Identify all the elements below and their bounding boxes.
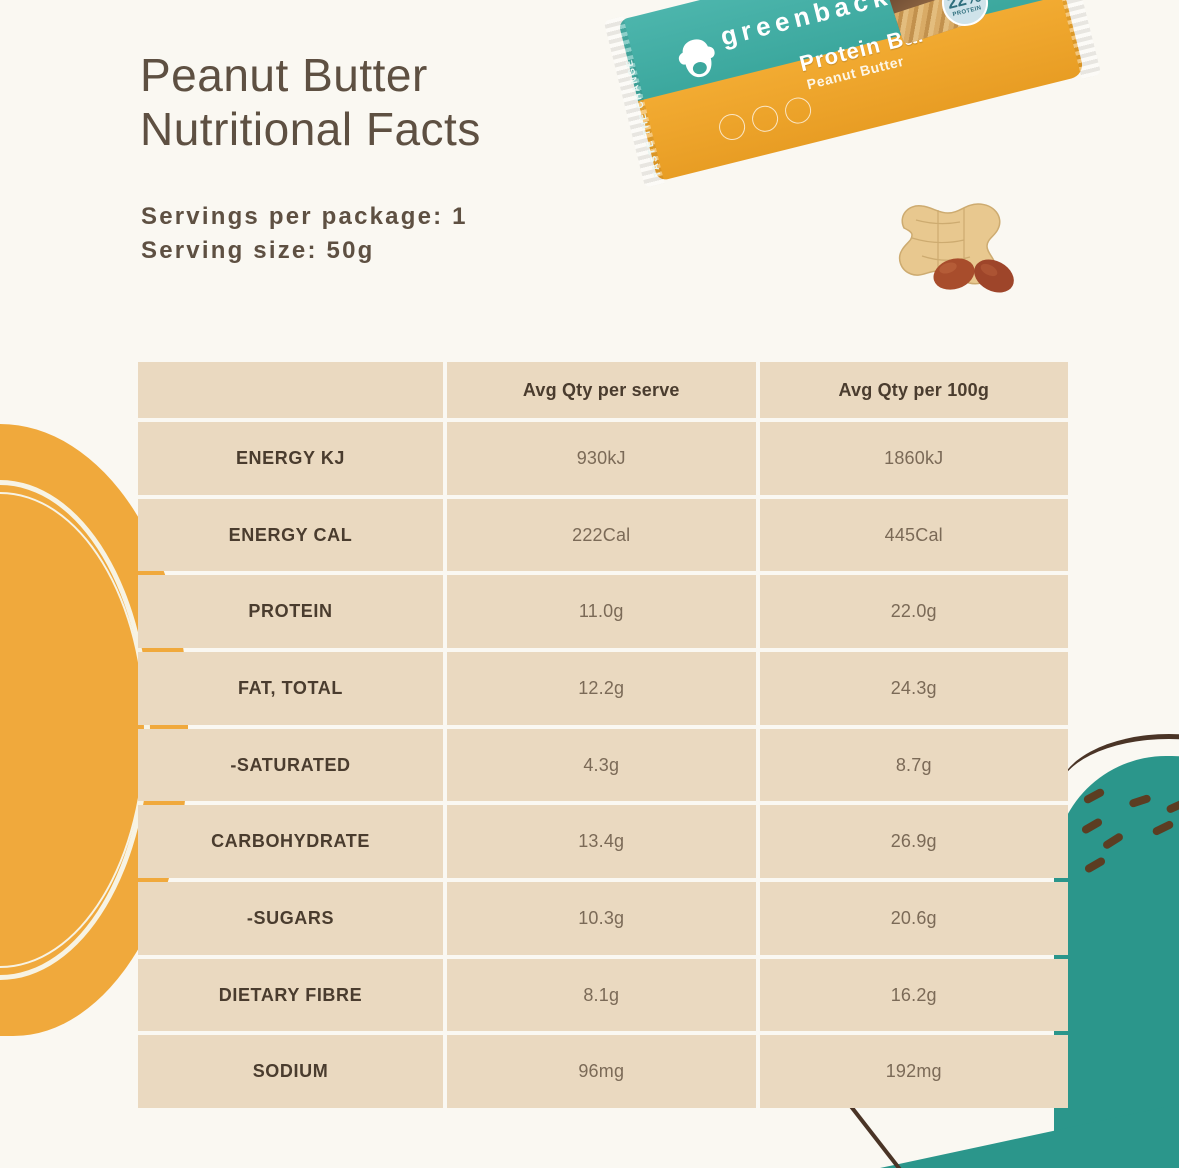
product-image: TASTE THE CHANGE greenback™ Protein Bar … xyxy=(628,0,1098,300)
sprinkle-icon xyxy=(1102,832,1125,850)
table-row: SODIUM 96mg 192mg xyxy=(138,1035,1068,1108)
row-label: FAT, TOTAL xyxy=(138,652,443,725)
row-per-serve: 930kJ xyxy=(447,422,756,495)
row-label: -SUGARS xyxy=(138,882,443,955)
row-per-100g: 20.6g xyxy=(760,882,1069,955)
row-label: -SATURATED xyxy=(138,729,443,802)
row-per-100g: 26.9g xyxy=(760,805,1069,878)
servings-per-package: Servings per package: 1 xyxy=(141,200,468,234)
sprinkle-icon xyxy=(1083,856,1106,874)
row-per-100g: 24.3g xyxy=(760,652,1069,725)
table-row: -SATURATED 4.3g 8.7g xyxy=(138,729,1068,802)
row-label: CARBOHYDRATE xyxy=(138,805,443,878)
protein-bar-package: TASTE THE CHANGE greenback™ Protein Bar … xyxy=(618,0,1085,182)
row-per-serve: 8.1g xyxy=(447,959,756,1032)
row-per-serve: 4.3g xyxy=(447,729,756,802)
row-per-serve: 12.2g xyxy=(447,652,756,725)
table-row: PROTEIN 11.0g 22.0g xyxy=(138,575,1068,648)
nutrition-table: Avg Qty per serve Avg Qty per 100g ENERG… xyxy=(138,362,1068,1108)
row-per-100g: 16.2g xyxy=(760,959,1069,1032)
row-per-100g: 8.7g xyxy=(760,729,1069,802)
table-row: ENERGY CAL 222Cal 445Cal xyxy=(138,499,1068,572)
page-title: Peanut Butter Nutritional Facts xyxy=(140,48,481,156)
sprinkle-icon xyxy=(1082,787,1105,804)
row-per-100g: 192mg xyxy=(760,1035,1069,1108)
sprinkle-icon xyxy=(1151,820,1174,837)
table-row: DIETARY FIBRE 8.1g 16.2g xyxy=(138,959,1068,1032)
row-per-100g: 1860kJ xyxy=(760,422,1069,495)
header-cell-per-serve: Avg Qty per serve xyxy=(447,362,756,418)
sprinkle-icon xyxy=(1080,817,1103,835)
row-label: ENERGY KJ xyxy=(138,422,443,495)
sprinkle-icon xyxy=(1128,794,1151,808)
teal-bottom-shape xyxy=(846,1104,1179,1168)
row-per-serve: 11.0g xyxy=(447,575,756,648)
nutrition-infographic: Peanut Butter Nutritional Facts Servings… xyxy=(0,0,1179,1168)
sprinkle-icon xyxy=(1165,798,1179,814)
row-label: SODIUM xyxy=(138,1035,443,1108)
row-label: PROTEIN xyxy=(138,575,443,648)
table-row: -SUGARS 10.3g 20.6g xyxy=(138,882,1068,955)
header-cell-per-100g: Avg Qty per 100g xyxy=(760,362,1069,418)
row-label: ENERGY CAL xyxy=(138,499,443,572)
peanut-icon xyxy=(886,186,1036,298)
serving-info: Servings per package: 1 Serving size: 50… xyxy=(141,200,468,268)
diagonal-line xyxy=(838,1100,958,1168)
teal-top-arc xyxy=(1058,734,1179,854)
table-row: ENERGY KJ 930kJ 1860kJ xyxy=(138,422,1068,495)
serving-size: Serving size: 50g xyxy=(141,234,468,268)
table-row: CARBOHYDRATE 13.4g 26.9g xyxy=(138,805,1068,878)
orange-arc-inner xyxy=(0,492,146,968)
row-per-serve: 222Cal xyxy=(447,499,756,572)
teal-blob-shape xyxy=(1054,756,1179,1168)
row-per-100g: 445Cal xyxy=(760,499,1069,572)
row-per-100g: 22.0g xyxy=(760,575,1069,648)
table-header-row: Avg Qty per serve Avg Qty per 100g xyxy=(138,362,1068,418)
orange-arc-outer xyxy=(0,480,150,980)
header-cell-blank xyxy=(138,362,443,418)
row-label: DIETARY FIBRE xyxy=(138,959,443,1032)
table-row: FAT, TOTAL 12.2g 24.3g xyxy=(138,652,1068,725)
row-per-serve: 13.4g xyxy=(447,805,756,878)
row-per-serve: 96mg xyxy=(447,1035,756,1108)
row-per-serve: 10.3g xyxy=(447,882,756,955)
